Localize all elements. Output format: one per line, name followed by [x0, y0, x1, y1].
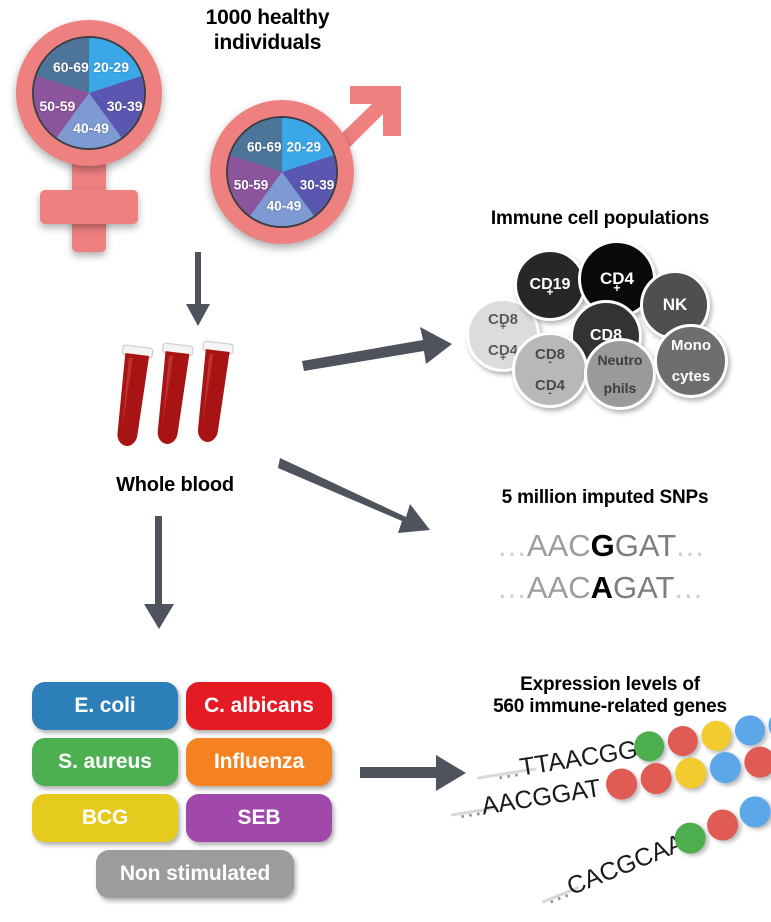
pie-age-label: 60-69 — [247, 139, 282, 154]
snp-after: GAT — [613, 570, 674, 605]
stimulus-seb[interactable]: SEB — [186, 794, 332, 842]
pie-age-label: 30-39 — [107, 98, 143, 114]
stimulus-influenza[interactable]: Influenza — [186, 738, 332, 786]
snp-sequence-1: ...AACGGAT... — [498, 528, 705, 564]
stimulus-bcg[interactable]: BCG — [32, 794, 178, 842]
cell-label-line1: Neutro — [597, 353, 642, 367]
stimulus-non-stimulated[interactable]: Non stimulated — [96, 850, 294, 898]
blood-tubes-group — [105, 338, 255, 468]
immune-cell-monocytes: Mono cytes — [654, 324, 728, 398]
blood-tubes-svg — [105, 338, 255, 468]
stimulus-label: Influenza — [214, 750, 304, 774]
male-gender-symbol: 20-2930-3940-4950-5960-69 — [196, 48, 416, 258]
pie-age-label: 30-39 — [300, 177, 335, 192]
pie-age-label: 40-49 — [267, 199, 302, 214]
gene-bead — [666, 724, 700, 758]
snp-before: AAC — [527, 570, 591, 605]
arrow-blood-to-immune — [300, 318, 460, 378]
snp-before: AAC — [527, 528, 591, 563]
arrow-blood-to-snps — [278, 455, 458, 555]
immune-populations-title: Immune cell populations — [440, 208, 760, 230]
immune-cell-cd8n-cd4n: CD8- CD4- — [512, 332, 588, 408]
female-gender-symbol: 20-2930-3940-4950-5960-69 — [10, 12, 200, 262]
expression-title: Expression levels of 560 immune-related … — [455, 674, 765, 719]
immune-cell-cd19p: CD19+ — [514, 249, 586, 321]
stimulus-s-aureus[interactable]: S. aureus — [32, 738, 178, 786]
stimulus-label: C. albicans — [204, 694, 314, 718]
female-symbol-crossbar — [40, 190, 138, 224]
gene-bead — [766, 708, 771, 742]
gene-bases: CACGCAA — [563, 829, 688, 901]
pie-age-label: 50-59 — [234, 177, 269, 192]
expression-title-line1: Expression levels of — [455, 674, 765, 696]
cell-label-line2: cytes — [671, 369, 711, 384]
stimulus-e-coli[interactable]: E. coli — [32, 682, 178, 730]
pie-age-label: 40-49 — [73, 120, 109, 136]
arrow-blood-to-stimuli — [138, 516, 182, 634]
stimulus-c-albicans[interactable]: C. albicans — [186, 682, 332, 730]
stimulus-label: SEB — [238, 806, 281, 830]
whole-blood-label: Whole blood — [75, 474, 275, 498]
gene-bead — [699, 719, 733, 753]
pie-age-label: 60-69 — [53, 59, 89, 75]
gene-bead — [702, 805, 742, 845]
gene-bead — [742, 744, 771, 779]
pie-age-label: 50-59 — [39, 98, 75, 114]
gene-bead — [708, 750, 743, 785]
snps-title: 5 million imputed SNPs — [455, 487, 755, 509]
snp-suffix: ... — [674, 570, 703, 605]
stimulus-label: Non stimulated — [120, 862, 270, 886]
snp-suffix: ... — [676, 528, 705, 563]
cell-label: NK — [663, 296, 688, 313]
snp-sequence-2: ...AACAGAT... — [498, 570, 703, 606]
gene-sequence-2: ...AACGGAT — [456, 774, 603, 825]
cell-label-line1: Mono — [671, 338, 711, 353]
snp-prefix: ... — [498, 570, 527, 605]
gene-sequence-3: ...CACGCAA — [541, 829, 689, 911]
expression-title-line2: 560 immune-related genes — [455, 696, 765, 718]
female-age-pie: 20-2930-3940-4950-5960-69 — [32, 36, 146, 150]
gene-bead — [604, 766, 639, 801]
stimulus-label: E. coli — [74, 694, 135, 718]
stimulus-label: BCG — [82, 806, 128, 830]
male-age-pie: 20-2930-3940-4950-5960-69 — [226, 116, 338, 228]
gene-bead — [673, 755, 708, 790]
immune-cell-neutrophils: Neutro phils — [584, 338, 656, 410]
gene-bead — [638, 761, 673, 796]
pie-age-label: 20-29 — [286, 139, 321, 154]
stimulus-label: S. aureus — [58, 750, 152, 774]
figure-canvas: 1000 healthy individuals 20-2930-3940-49… — [0, 0, 771, 922]
snp-prefix: ... — [498, 528, 527, 563]
gene-bead — [735, 792, 771, 832]
immune-cell-group: CD8+ CD4+ CD19+ CD4+ CD8+ NK — [458, 240, 758, 420]
snp-variant: G — [591, 528, 615, 563]
cell-label-line2: phils — [597, 381, 642, 395]
arrow-cohort-to-blood — [178, 252, 218, 332]
arrow-stimuli-to-genes — [360, 752, 470, 796]
pie-age-label: 20-29 — [93, 59, 129, 75]
snp-variant: A — [591, 570, 613, 605]
snp-after: GAT — [615, 528, 676, 563]
